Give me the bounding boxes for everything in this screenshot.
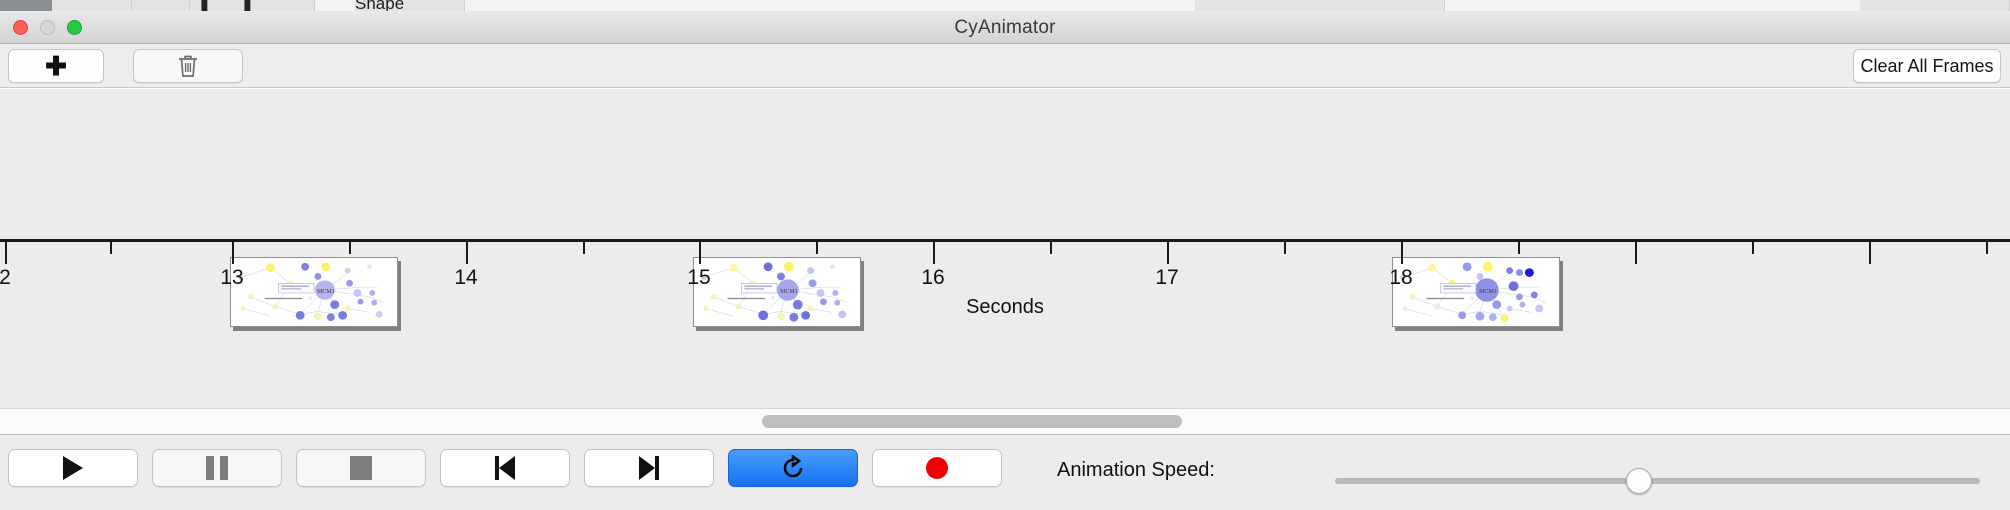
- animation-speed-slider[interactable]: [1335, 478, 1980, 484]
- record-icon: [926, 457, 948, 479]
- ruler-tick-major: [1869, 242, 1871, 264]
- timeline-canvas: MCM1: [0, 89, 2010, 408]
- skip-back-icon: [495, 456, 515, 480]
- ruler-tick-minor: [1050, 242, 1052, 254]
- scrollbar-thumb[interactable]: [762, 415, 1182, 428]
- ruler-tick-minor: [816, 242, 818, 254]
- delete-frame-button[interactable]: [133, 49, 243, 83]
- stop-icon: [350, 456, 372, 480]
- stop-button[interactable]: [296, 449, 426, 487]
- ruler-baseline: [0, 239, 2010, 242]
- ruler-tick-major: [1635, 242, 1637, 264]
- record-button[interactable]: [872, 449, 1002, 487]
- ruler-tick-label: 14: [454, 266, 477, 290]
- ruler-tick-major: [466, 242, 468, 264]
- skip-to-start-button[interactable]: [440, 449, 570, 487]
- ruler-tick-minor: [1752, 242, 1754, 254]
- ruler-tick-minor: [1284, 242, 1286, 254]
- timeline-axis-title: Seconds: [0, 296, 2010, 319]
- ruler-tick-minor: [1986, 242, 1988, 254]
- ruler-tick-minor: [349, 242, 351, 254]
- window-titlebar: CyAnimator: [0, 11, 2010, 44]
- animation-speed-slider-knob[interactable]: [1626, 468, 1652, 494]
- skip-forward-icon: [639, 456, 659, 480]
- ruler-tick-major: [1401, 242, 1403, 264]
- ruler-tick-major: [232, 242, 234, 264]
- plus-icon: ✚: [45, 53, 67, 79]
- pause-button[interactable]: [152, 449, 282, 487]
- play-button[interactable]: [8, 449, 138, 487]
- playback-control-bar: Animation Speed:: [0, 434, 2010, 510]
- window-title: CyAnimator: [0, 11, 2010, 44]
- ruler-tick-major: [933, 242, 935, 264]
- animation-speed-label: Animation Speed:: [1057, 459, 1215, 482]
- timeline-panel[interactable]: MCM1: [0, 88, 2010, 408]
- timeline-horizontal-scrollbar[interactable]: [0, 408, 2010, 434]
- ruler-tick-major: [1167, 242, 1169, 264]
- play-icon: [63, 456, 83, 480]
- parent-app-label: Shape: [355, 0, 404, 11]
- loop-icon: [780, 455, 806, 481]
- cyanimator-window: ▮ ▮ Shape CyAnimator ✚ Clear All Frames: [0, 0, 2010, 510]
- ruler-tick-minor: [1518, 242, 1520, 254]
- clear-all-frames-button[interactable]: Clear All Frames: [1853, 49, 2001, 83]
- ruler-tick-label: 2: [0, 266, 11, 290]
- trash-icon: [177, 53, 199, 79]
- pause-icon: [206, 456, 228, 480]
- ruler-tick-major: [5, 242, 7, 264]
- ruler-tick-label: 17: [1155, 266, 1178, 290]
- add-frame-button[interactable]: ✚: [8, 49, 104, 83]
- ruler-tick-label: 18: [1389, 266, 1412, 290]
- parent-app-toolbar-strip: ▮ ▮ Shape: [0, 0, 2010, 11]
- ruler-tick-label: 15: [687, 266, 710, 290]
- ruler-tick-minor: [110, 242, 112, 254]
- skip-to-end-button[interactable]: [584, 449, 714, 487]
- ruler-tick-label: 16: [921, 266, 944, 290]
- loop-button[interactable]: [728, 449, 858, 487]
- ruler-tick-minor: [583, 242, 585, 254]
- frame-toolbar: ✚ Clear All Frames: [0, 44, 2010, 88]
- timeline-ruler[interactable]: 2 13 14 15 16 17 18: [0, 239, 2010, 299]
- ruler-tick-label: 13: [220, 266, 243, 290]
- ruler-tick-major: [699, 242, 701, 264]
- clear-all-frames-label: Clear All Frames: [1860, 56, 1993, 77]
